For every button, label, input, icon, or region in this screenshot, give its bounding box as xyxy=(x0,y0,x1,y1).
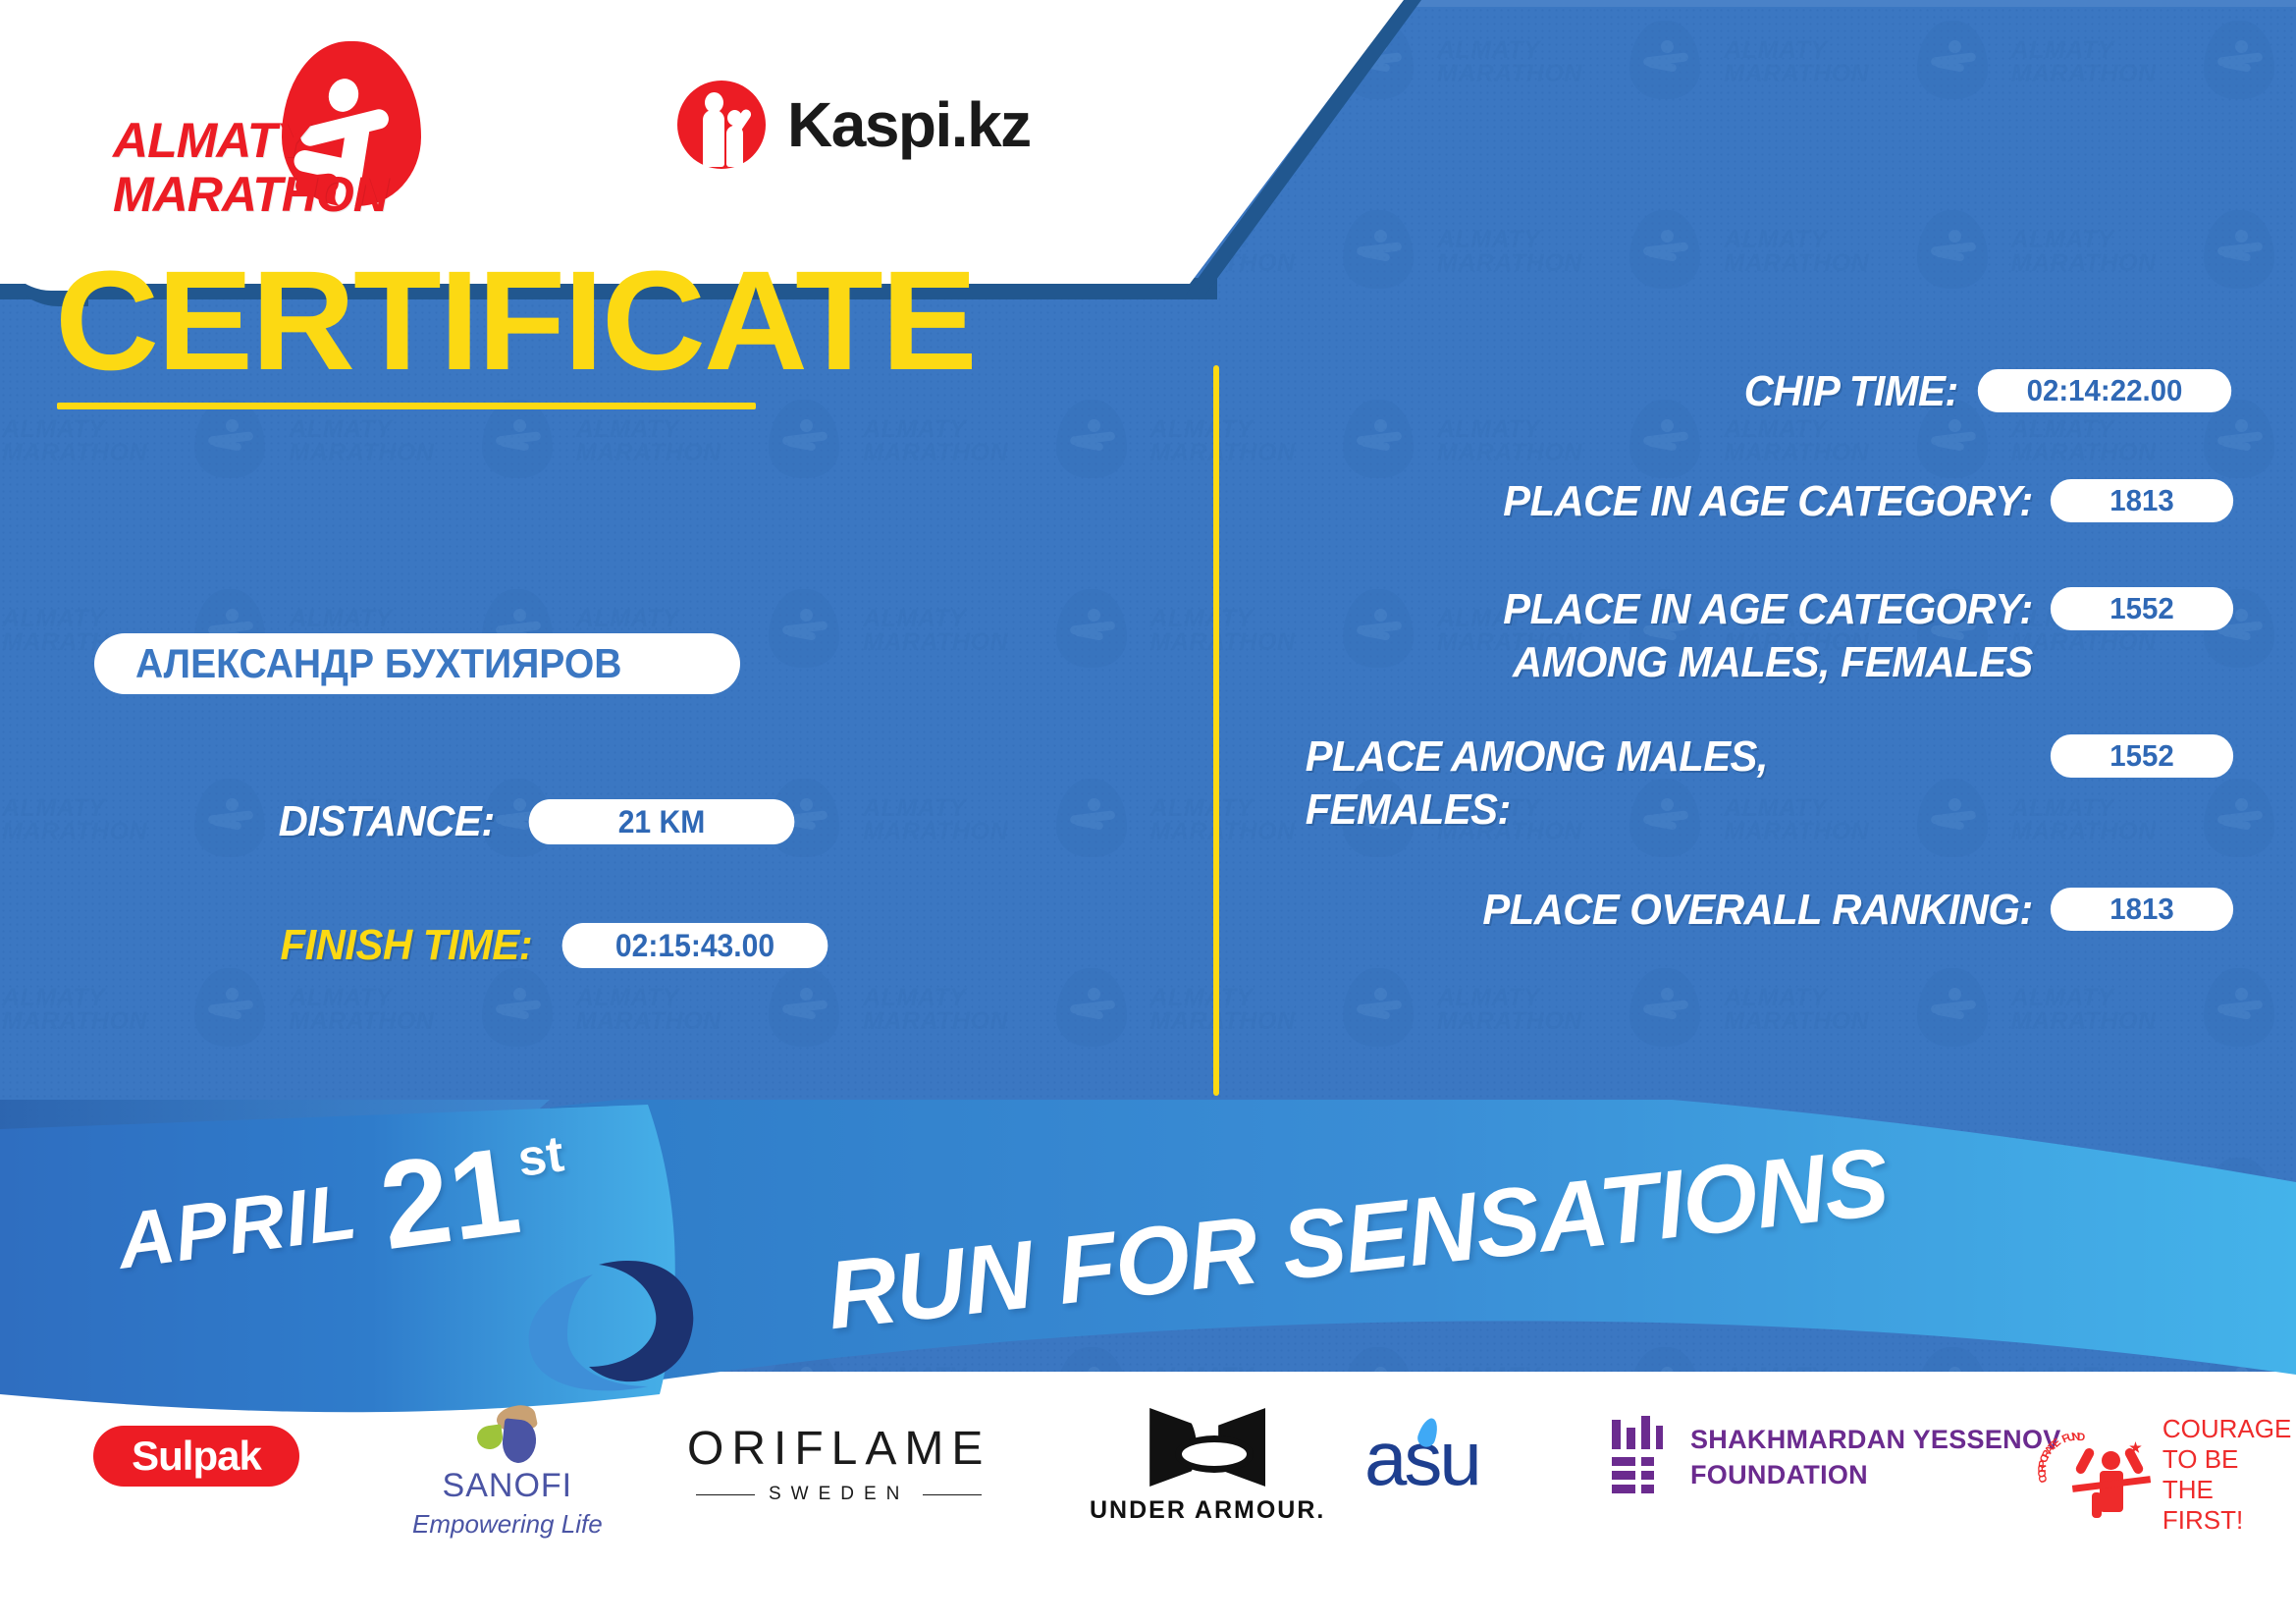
watermark-runner-icon xyxy=(1643,230,1688,263)
under-armour-mark-icon xyxy=(1149,1408,1265,1487)
watermark-text: ALMATY MARATHON xyxy=(1150,986,1296,1033)
stat-value: 1552 xyxy=(2051,734,2233,778)
stats-list: CHIP TIME: 02:14:22.00 PLACE IN AGE CATE… xyxy=(1256,365,2238,964)
distance-label: DISTANCE: xyxy=(279,797,495,846)
stat-label: PLACE OVERALL RANKING: xyxy=(1296,884,2046,937)
sponsor-asu: asu xyxy=(1364,1420,1479,1496)
almaty-marathon-logo: ALMATY MARATHON xyxy=(113,47,437,224)
watermark-text: ALMATY MARATHON xyxy=(863,986,1008,1033)
watermark-runner-icon xyxy=(782,419,828,453)
watermark-runner-icon xyxy=(1070,419,1115,453)
stat-row-place-in-age-category: PLACE IN AGE CATEGORY: 1813 xyxy=(1256,475,2238,528)
sponsor-under-armour: UNDER ARMOUR. xyxy=(1090,1408,1325,1525)
ua-center-ring-icon xyxy=(1175,1435,1254,1473)
watermark-text: ALMATY MARATHON xyxy=(863,796,1008,843)
yessenov-foundation-wordmark: SHAKHMARDAN YESSENOV FOUNDATION xyxy=(1690,1422,2061,1492)
watermark-runner-icon xyxy=(1070,609,1115,642)
kaspi-adult-body-icon xyxy=(703,110,724,167)
watermark-text: ALMATY MARATHON xyxy=(2011,38,2157,85)
title-underline-rule xyxy=(57,403,756,409)
watermark-runner-icon xyxy=(782,988,828,1021)
stat-row-place-in-age-category-among-males-females: PLACE IN AGE CATEGORY: AMONG MALES, FEMA… xyxy=(1256,583,2238,689)
watermark-text: ALMATY MARATHON xyxy=(1724,38,1869,85)
watermark-text: ALMATY MARATHON xyxy=(289,417,434,464)
sponsor-logo-row: Sulpak SANOFI Empowering Life ORIFLAME S… xyxy=(0,1414,2296,1591)
watermark-text: ALMATY MARATHON xyxy=(289,986,434,1033)
watermark-tile: ALMATY MARATHON xyxy=(861,775,1148,964)
stat-label: PLACE AMONG MALES, FEMALES: xyxy=(1296,731,2046,837)
stat-value: 1813 xyxy=(2051,888,2233,931)
sulpak-wordmark: Sulpak xyxy=(132,1433,261,1480)
under-armour-wordmark: UNDER ARMOUR. xyxy=(1090,1496,1325,1525)
distance-row: DISTANCE: 21 KM xyxy=(267,797,803,846)
oriflame-rule-right xyxy=(923,1494,982,1495)
event-day-suffix: st xyxy=(514,1124,567,1189)
watermark-text: ALMATY MARATHON xyxy=(2011,228,2157,275)
distance-value: 21 KM xyxy=(528,799,794,844)
watermark-text: ALMATY MARATHON xyxy=(576,986,721,1033)
certificate-canvas: ALMATY MARATHONALMATY MARATHONALMATY MAR… xyxy=(0,0,2296,1624)
kaspi-wordmark: Kaspi.kz xyxy=(787,88,1031,161)
courage-head-icon xyxy=(2102,1451,2120,1470)
oriflame-tagline: SWEDEN xyxy=(769,1484,909,1505)
watermark-runner-icon xyxy=(1643,40,1688,74)
courage-runner-icon xyxy=(2076,1439,2149,1520)
watermark-text: ALMATY MARATHON xyxy=(2,796,147,843)
yessenov-foundation-mark-icon xyxy=(1610,1416,1665,1498)
watermark-text: ALMATY MARATHON xyxy=(2,417,147,464)
sanofi-tagline: Empowering Life xyxy=(412,1509,603,1540)
vertical-divider xyxy=(1213,365,1219,1096)
stat-label: CHIP TIME: xyxy=(1292,365,1971,418)
sponsor-oriflame: ORIFLAME SWEDEN xyxy=(687,1422,990,1505)
stat-label: PLACE IN AGE CATEGORY: AMONG MALES, FEMA… xyxy=(1296,583,2046,689)
watermark-text: ALMATY MARATHON xyxy=(863,607,1008,654)
courage-right-arm-icon xyxy=(2123,1446,2145,1475)
courage-left-arm-icon xyxy=(2074,1446,2096,1475)
watermark-runner-icon xyxy=(1931,988,1976,1021)
watermark-runner-icon xyxy=(782,609,828,642)
stat-row-chip-time: CHIP TIME: 02:14:22.00 xyxy=(1256,365,2238,418)
watermark-text: ALMATY MARATHON xyxy=(1724,986,1869,1033)
watermark-tile: ALMATY MARATHON xyxy=(1722,17,2008,206)
kaspi-logo: Kaspi.kz xyxy=(677,81,1031,169)
watermark-runner-icon xyxy=(2217,230,2263,263)
stat-value: 1552 xyxy=(2051,587,2233,630)
watermark-runner-icon xyxy=(1931,230,1976,263)
watermark-runner-icon xyxy=(1643,988,1688,1021)
stat-value: 1813 xyxy=(2051,479,2233,522)
courage-torso-icon xyxy=(2100,1471,2123,1512)
watermark-runner-icon xyxy=(1931,40,1976,74)
stat-row-place-among-males-females: PLACE AMONG MALES, FEMALES: 1552 xyxy=(1256,731,2238,837)
sulpak-badge-icon: Sulpak xyxy=(93,1426,299,1487)
watermark-text: ALMATY MARATHON xyxy=(1724,228,1869,275)
courage-fund-mark-icon: CORPORATE FUND xyxy=(2047,1430,2149,1520)
watermark-runner-icon xyxy=(208,798,253,832)
asu-mark-icon: asu xyxy=(1364,1420,1479,1496)
sponsor-shakhmardan-yessenov-foundation: SHAKHMARDAN YESSENOV FOUNDATION xyxy=(1610,1416,2061,1498)
sponsor-sanofi: SANOFI Empowering Life xyxy=(412,1406,603,1540)
kaspi-circle-icon xyxy=(677,81,766,169)
event-month: APRIL xyxy=(112,1166,362,1287)
watermark-text: ALMATY MARATHON xyxy=(1437,38,1582,85)
oriflame-tagline-row: SWEDEN xyxy=(696,1484,982,1505)
stat-value: 02:14:22.00 xyxy=(1978,369,2231,412)
watermark-text: ALMATY MARATHON xyxy=(576,417,721,464)
watermark-runner-icon xyxy=(2217,988,2263,1021)
watermark-text: ALMATY MARATHON xyxy=(1437,228,1582,275)
watermark-runner-icon xyxy=(2217,40,2263,74)
oriflame-wordmark: ORIFLAME xyxy=(687,1422,990,1476)
oriflame-rule-left xyxy=(696,1494,755,1495)
stat-label: PLACE IN AGE CATEGORY: xyxy=(1296,475,2046,528)
athlete-name-value: АЛЕКСАНДР БУХТИЯРОВ xyxy=(135,640,621,687)
finish-time-row: FINISH TIME: 02:15:43.00 xyxy=(267,921,836,970)
watermark-tile: ALMATY MARATHON xyxy=(2009,17,2296,206)
watermark-runner-icon xyxy=(208,419,253,453)
watermark-tile: ALMATY MARATHON xyxy=(0,775,287,964)
sanofi-green-petal-icon xyxy=(475,1424,504,1450)
watermark-text: ALMATY MARATHON xyxy=(863,417,1008,464)
athlete-name-field: АЛЕКСАНДР БУХТИЯРОВ xyxy=(94,633,740,694)
watermark-runner-icon xyxy=(496,419,541,453)
stat-row-place-overall-ranking: PLACE OVERALL RANKING: 1813 xyxy=(1256,884,2238,937)
sanofi-wordmark: SANOFI xyxy=(443,1467,573,1505)
watermark-text: ALMATY MARATHON xyxy=(2,986,147,1033)
watermark-runner-icon xyxy=(496,988,541,1021)
watermark-tile: ALMATY MARATHON xyxy=(287,396,573,585)
watermark-tile: ALMATY MARATHON xyxy=(1435,17,1722,206)
watermark-tile: ALMATY MARATHON xyxy=(0,396,287,585)
watermark-tile: ALMATY MARATHON xyxy=(574,396,861,585)
header-logo-bar: ALMATY MARATHON Kaspi.kz xyxy=(0,0,1404,284)
watermark-runner-icon xyxy=(1357,988,1402,1021)
watermark-text: ALMATY MARATHON xyxy=(2011,986,2157,1033)
sanofi-mark-icon xyxy=(473,1406,542,1463)
finish-time-label: FINISH TIME: xyxy=(281,921,533,970)
almaty-marathon-wordmark: ALMATY MARATHON xyxy=(113,114,388,222)
watermark-tile: ALMATY MARATHON xyxy=(861,585,1148,775)
sponsor-corporate-fund-courage-to-be-the-first: CORPORATE FUND COURAGE TO BE THE FIRST! xyxy=(2047,1414,2296,1536)
finish-time-value: 02:15:43.00 xyxy=(562,923,828,968)
event-day: 21 xyxy=(375,1135,526,1262)
courage-fund-wordmark: COURAGE TO BE THE FIRST! xyxy=(2163,1414,2296,1536)
sponsor-sulpak: Sulpak xyxy=(93,1426,299,1487)
watermark-runner-icon xyxy=(1070,988,1115,1021)
watermark-runner-icon xyxy=(1070,798,1115,832)
watermark-text: ALMATY MARATHON xyxy=(1437,986,1582,1033)
courage-leg-icon xyxy=(2092,1492,2102,1518)
watermark-tile: ALMATY MARATHON xyxy=(861,396,1148,585)
watermark-runner-icon xyxy=(208,988,253,1021)
